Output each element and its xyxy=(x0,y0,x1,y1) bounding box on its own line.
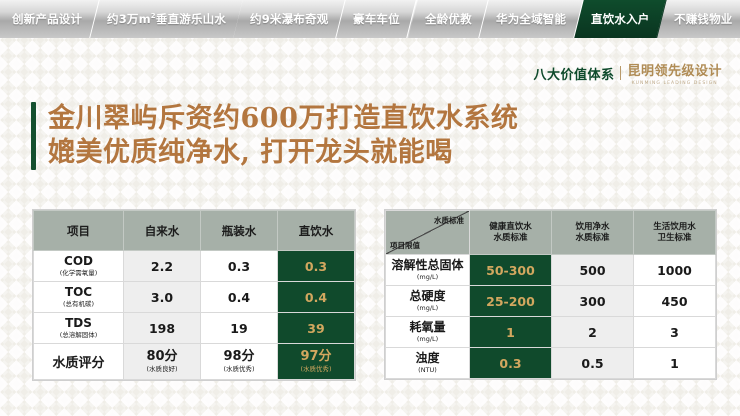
col-header-line-1: 生活饮用水 xyxy=(634,222,715,233)
cell-oxygen-purified: 2 xyxy=(552,317,634,348)
cell-cod-bottled: 0.3 xyxy=(201,251,278,282)
cell-value: 97分 xyxy=(278,350,354,364)
cell-hardness-domestic: 450 xyxy=(634,286,716,317)
cell-tds-purified: 500 xyxy=(552,255,634,286)
cell-tds-tap: 198 xyxy=(124,313,201,344)
row-label-sub: (总溶解固体) xyxy=(34,331,123,340)
corner-label-limit: 项目限值 xyxy=(390,241,420,250)
cell-cod-tap: 2.2 xyxy=(124,251,201,282)
col-header-domestic-drinking: 生活饮用水 卫生标准 xyxy=(634,211,716,255)
water-standards-table: 水质标准 项目限值 健康直饮水 水质标准 饮用净水 水质标准 生活饮用水 卫生标… xyxy=(385,210,716,379)
brand-divider xyxy=(620,66,621,80)
cell-value: 1 xyxy=(506,325,515,340)
cell-hardness-purified: 300 xyxy=(552,286,634,317)
cell-value: 3.0 xyxy=(151,290,173,305)
nav-tab-label: 约9米瀑布奇观 xyxy=(250,11,328,27)
nav-tab-5[interactable]: 华为全域智能 xyxy=(479,0,583,38)
cell-value: 1000 xyxy=(657,263,692,278)
cell-value-note: (水质良好) xyxy=(124,365,200,374)
nav-tab-label: 全龄优教 xyxy=(425,11,472,27)
headline-line-2: 媲美优质纯净水, 打开龙头就能喝 xyxy=(48,136,518,170)
cell-value: 0.3 xyxy=(305,259,327,274)
brand-right-group: 昆明领先级设计 KUNMING LEADING DESIGN xyxy=(627,60,722,86)
headline-block: 金川翠屿斥资约600万打造直饮水系统 媲美优质纯净水, 打开龙头就能喝 xyxy=(31,102,518,170)
headline-line-1: 金川翠屿斥资约600万打造直饮水系统 xyxy=(48,102,518,136)
row-label-sub: (总有机碳) xyxy=(34,300,123,309)
row-label-unit: (mg/L) xyxy=(386,335,469,344)
nav-tab-6-active[interactable]: 直饮水入户 xyxy=(574,0,667,38)
col-header-line-2: 水质标准 xyxy=(470,233,551,244)
row-label-main: TOC xyxy=(34,286,123,299)
cell-turbidity-healthy: 0.3 xyxy=(470,348,552,379)
row-label-hardness: 总硬度 (mg/L) xyxy=(386,286,470,317)
cell-score-bottled: 98分 (水质优秀) xyxy=(201,344,278,380)
col-header-line-2: 水质标准 xyxy=(552,233,633,244)
row-label-main: 溶解性总固体 xyxy=(386,259,469,272)
row-label-unit: (mg/L) xyxy=(386,304,469,313)
table-row: COD (化学需氧量) 2.2 0.3 0.3 xyxy=(34,251,355,282)
cell-turbidity-purified: 0.5 xyxy=(552,348,634,379)
col-header-bottled-water: 瓶装水 xyxy=(201,211,278,251)
cell-score-tap: 80分 (水质良好) xyxy=(124,344,201,380)
slide-canvas: 创新产品设计 约3万m2垂直游乐山水 约9米瀑布奇观 豪车车位 全龄优教 华为全… xyxy=(0,0,740,416)
row-label-main: 水质评分 xyxy=(52,356,104,371)
corner-diagonal-header: 水质标准 项目限值 xyxy=(386,211,470,255)
table-row: TDS (总溶解固体) 198 19 39 xyxy=(34,313,355,344)
headline-accent-bar xyxy=(31,102,36,170)
row-label-main: 总硬度 xyxy=(386,290,469,303)
row-label-main: TDS xyxy=(34,317,123,330)
table-row: 浊度 (NTU) 0.3 0.5 1 xyxy=(386,348,716,379)
cell-value: 1 xyxy=(670,356,679,371)
cell-oxygen-healthy: 1 xyxy=(470,317,552,348)
corner-label-standard: 水质标准 xyxy=(434,216,464,225)
row-label-score: 水质评分 xyxy=(34,344,124,380)
nav-tab-label: 华为全域智能 xyxy=(496,11,566,27)
col-header-line-2: 卫生标准 xyxy=(634,233,715,244)
cell-score-direct: 97分 (水质优秀) xyxy=(278,344,355,380)
cell-value: 450 xyxy=(661,294,687,309)
cell-value: 25-200 xyxy=(486,294,535,309)
brand-english-text: KUNMING LEADING DESIGN xyxy=(632,81,718,86)
nav-tab-label: 约3万m2垂直游乐山水 xyxy=(107,11,226,27)
nav-tab-0[interactable]: 创新产品设计 xyxy=(0,0,100,38)
cell-value: 0.4 xyxy=(305,290,327,305)
row-label-main: 浊度 xyxy=(386,352,469,365)
cell-hardness-healthy: 25-200 xyxy=(470,286,552,317)
row-label-cod: COD (化学需氧量) xyxy=(34,251,124,282)
nav-tab-label: 豪车车位 xyxy=(353,11,400,27)
cell-value: 2 xyxy=(588,325,597,340)
cell-value: 0.4 xyxy=(228,290,250,305)
row-label-toc: TOC (总有机碳) xyxy=(34,282,124,313)
cell-value: 0.5 xyxy=(581,356,603,371)
nav-tab-label: 不赚钱物业 xyxy=(674,11,733,27)
cell-toc-tap: 3.0 xyxy=(124,282,201,313)
cell-tds-direct: 39 xyxy=(278,313,355,344)
cell-value: 300 xyxy=(579,294,605,309)
cell-value: 98分 xyxy=(201,350,277,364)
nav-tab-1[interactable]: 约3万m2垂直游乐山水 xyxy=(90,0,243,38)
cell-value-note: (水质优秀) xyxy=(278,365,354,374)
table-row: TOC (总有机碳) 3.0 0.4 0.4 xyxy=(34,282,355,313)
nav-tab-3[interactable]: 豪车车位 xyxy=(337,0,418,38)
row-label-oxygen-consumption: 耗氧量 (mg/L) xyxy=(386,317,470,348)
cell-tds-healthy: 50-300 xyxy=(470,255,552,286)
brand-main-text: 八大价值体系 xyxy=(533,64,614,83)
col-header-line-1: 健康直饮水 xyxy=(470,222,551,233)
water-comparison-table: 项目 自来水 瓶装水 直饮水 COD (化学需氧量) 2.2 0.3 0.3 T… xyxy=(33,210,355,380)
cell-toc-direct: 0.4 xyxy=(278,282,355,313)
cell-turbidity-domestic: 1 xyxy=(634,348,716,379)
cell-value: 3 xyxy=(670,325,679,340)
cell-value: 500 xyxy=(579,263,605,278)
col-header-tap-water: 自来水 xyxy=(124,211,201,251)
row-label-tds-dissolved: 溶解性总固体 (mg/L) xyxy=(386,255,470,286)
row-label-tds: TDS (总溶解固体) xyxy=(34,313,124,344)
cell-tds-domestic: 1000 xyxy=(634,255,716,286)
nav-tab-label: 创新产品设计 xyxy=(12,11,82,27)
row-label-sub: (化学需氧量) xyxy=(34,269,123,278)
cell-oxygen-domestic: 3 xyxy=(634,317,716,348)
brand-lockup: 八大价值体系 昆明领先级设计 KUNMING LEADING DESIGN xyxy=(533,60,722,86)
cell-value: 198 xyxy=(149,321,175,336)
cell-value: 50-300 xyxy=(486,263,535,278)
cell-tds-bottled: 19 xyxy=(201,313,278,344)
cell-toc-bottled: 0.4 xyxy=(201,282,278,313)
cell-value-note: (水质优秀) xyxy=(201,365,277,374)
top-navigation-bar: 创新产品设计 约3万m2垂直游乐山水 约9米瀑布奇观 豪车车位 全龄优教 华为全… xyxy=(0,0,740,38)
col-header-purified-drinking: 饮用净水 水质标准 xyxy=(552,211,634,255)
cell-value: 0.3 xyxy=(228,259,250,274)
nav-tab-label: 直饮水入户 xyxy=(591,11,650,27)
nav-tab-7[interactable]: 不赚钱物业 xyxy=(657,0,740,38)
row-label-main: 耗氧量 xyxy=(386,321,469,334)
table-row: 总硬度 (mg/L) 25-200 300 450 xyxy=(386,286,716,317)
col-header-line-1: 饮用净水 xyxy=(552,222,633,233)
table-header-row: 项目 自来水 瓶装水 直饮水 xyxy=(34,211,355,251)
nav-tab-4[interactable]: 全龄优教 xyxy=(408,0,489,38)
cell-value: 2.2 xyxy=(151,259,173,274)
row-label-main: COD xyxy=(34,255,123,268)
table-header-row: 水质标准 项目限值 健康直饮水 水质标准 饮用净水 水质标准 生活饮用水 卫生标… xyxy=(386,211,716,255)
headline-text-group: 金川翠屿斥资约600万打造直饮水系统 媲美优质纯净水, 打开龙头就能喝 xyxy=(48,102,518,170)
table-row-score: 水质评分 80分 (水质良好) 98分 (水质优秀) 97分 (水质优秀) xyxy=(34,344,355,380)
cell-value: 80分 xyxy=(124,350,200,364)
cell-value: 39 xyxy=(307,321,324,336)
nav-tab-2[interactable]: 约9米瀑布奇观 xyxy=(234,0,346,38)
col-header-item: 项目 xyxy=(34,211,124,251)
col-header-healthy-direct-drinking: 健康直饮水 水质标准 xyxy=(470,211,552,255)
row-label-unit: (mg/L) xyxy=(386,273,469,282)
table-row: 溶解性总固体 (mg/L) 50-300 500 1000 xyxy=(386,255,716,286)
col-header-direct-drinking-water: 直饮水 xyxy=(278,211,355,251)
table-row: 耗氧量 (mg/L) 1 2 3 xyxy=(386,317,716,348)
row-label-unit: (NTU) xyxy=(386,366,469,375)
brand-sub-text: 昆明领先级设计 xyxy=(627,60,722,79)
row-label-turbidity: 浊度 (NTU) xyxy=(386,348,470,379)
cell-cod-direct: 0.3 xyxy=(278,251,355,282)
cell-value: 0.3 xyxy=(499,356,521,371)
cell-value: 19 xyxy=(230,321,247,336)
